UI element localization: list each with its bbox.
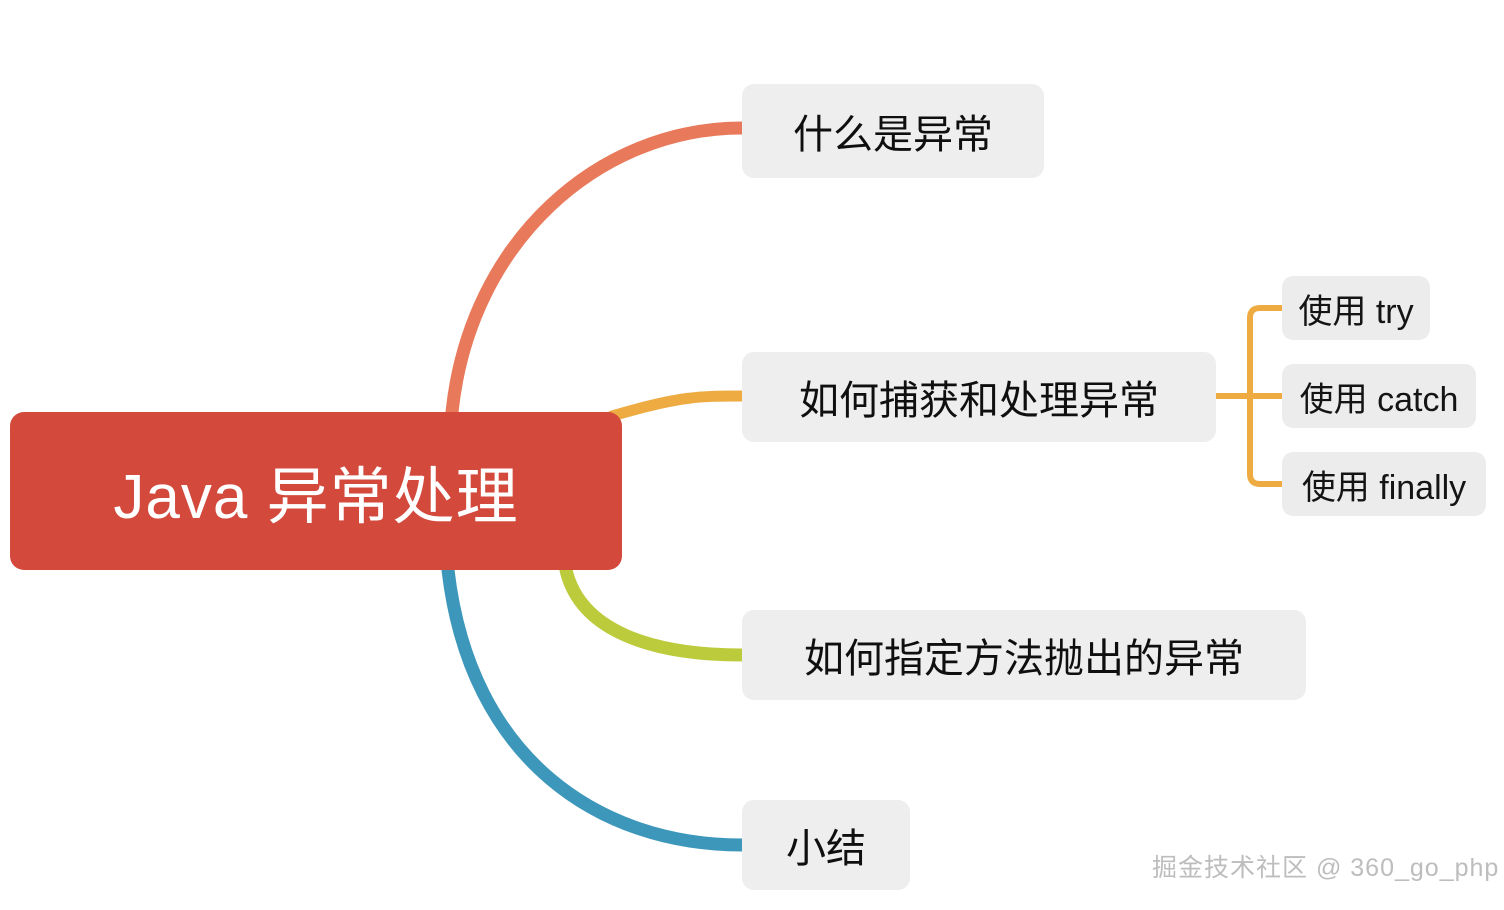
branch-node-what-is-exception[interactable]: 什么是异常 (742, 84, 1044, 178)
connector-branch-1 (452, 128, 742, 412)
leaf-node-use-finally[interactable]: 使用 finally (1282, 452, 1486, 516)
root-node-label: Java 异常处理 (113, 446, 518, 536)
leaf-node-use-try[interactable]: 使用 try (1282, 276, 1430, 340)
branch-node-summary[interactable]: 小结 (742, 800, 910, 890)
root-node[interactable]: Java 异常处理 (10, 412, 622, 570)
leaf-node-label: 使用 finally (1302, 460, 1466, 509)
leaf-node-use-catch[interactable]: 使用 catch (1282, 364, 1476, 428)
mindmap-canvas: Java 异常处理 什么是异常 如何捕获和处理异常 如何指定方法抛出的异常 小结… (0, 0, 1504, 910)
branch-node-catch-and-handle[interactable]: 如何捕获和处理异常 (742, 352, 1216, 442)
connector-branch-4 (448, 570, 742, 845)
branch-node-label: 如何指定方法抛出的异常 (804, 626, 1244, 684)
connector-subbranch-try (1250, 308, 1282, 396)
leaf-node-label: 使用 try (1298, 284, 1413, 333)
watermark-text: 掘金技术社区 @ 360_go_php (1152, 848, 1499, 884)
branch-node-label: 如何捕获和处理异常 (799, 368, 1159, 426)
leaf-node-label: 使用 catch (1300, 372, 1459, 421)
connector-branch-2 (612, 396, 742, 416)
branch-node-label: 小结 (786, 816, 866, 874)
branch-node-label: 什么是异常 (793, 102, 993, 160)
branch-node-declare-throws[interactable]: 如何指定方法抛出的异常 (742, 610, 1306, 700)
connector-subbranch-finally (1250, 396, 1282, 484)
connector-branch-3 (566, 570, 742, 655)
